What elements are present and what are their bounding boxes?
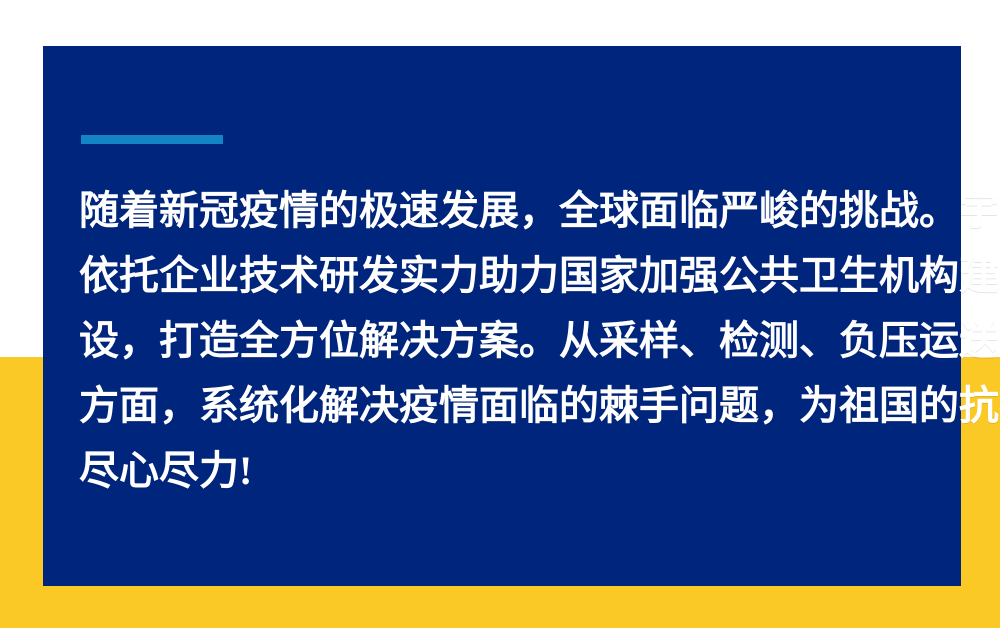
copy-line: 设，打造全方位解决方案。从采样、检测、负压运送等 [79,308,931,373]
poster-canvas: 随着新冠疫情的极速发展，全球面临严峻的挑战。宇通 依托企业技术研发实力助力国家加… [0,0,1000,628]
copy-line: 依托企业技术研发实力助力国家加强公共卫生机构建 [79,243,931,308]
copy-line: 随着新冠疫情的极速发展，全球面临严峻的挑战。宇通 [79,178,931,243]
body-copy-block: 随着新冠疫情的极速发展，全球面临严峻的挑战。宇通 依托企业技术研发实力助力国家加… [79,178,931,503]
cyan-divider-rule [81,135,223,144]
blue-content-card: 随着新冠疫情的极速发展，全球面临严峻的挑战。宇通 依托企业技术研发实力助力国家加… [43,46,961,586]
copy-line: 方面，系统化解决疫情面临的棘手问题，为祖国的抗疫 [79,373,931,438]
copy-line: 尽心尽力! [79,438,931,503]
yellow-bottom-bar [0,586,1000,628]
